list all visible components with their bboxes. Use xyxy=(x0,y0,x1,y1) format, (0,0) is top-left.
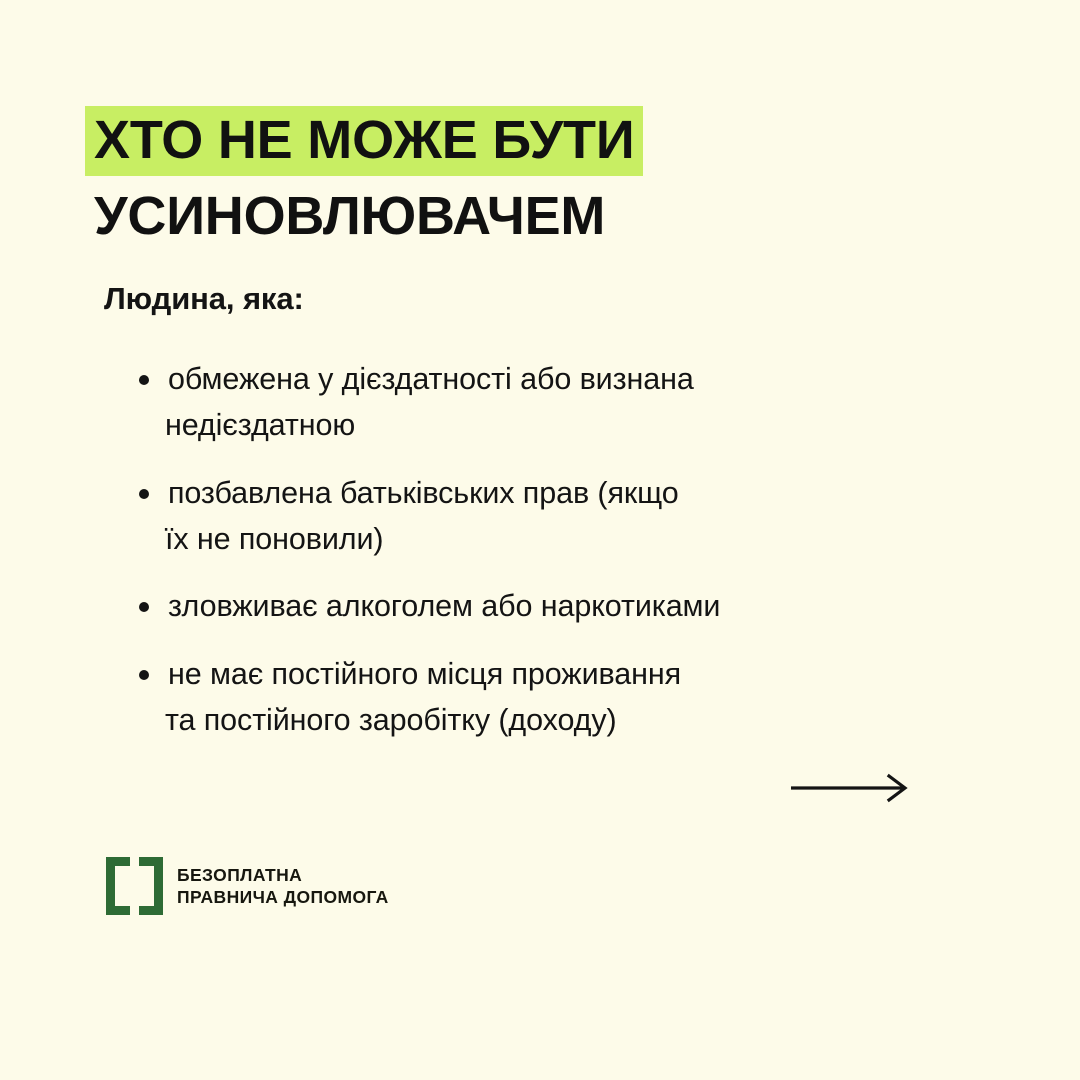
subtitle: Людина, яка: xyxy=(104,281,304,317)
bullet-dot-icon xyxy=(139,375,149,385)
list-item-line: зловживає алкоголем або наркотиками xyxy=(168,583,966,629)
title-line-2: УСИНОВЛЮВАЧЕМ xyxy=(94,186,914,248)
page-title: ХТО НЕ МОЖЕ БУТИ УСИНОВЛЮВАЧЕМ xyxy=(94,106,914,248)
slide-card: ХТО НЕ МОЖЕ БУТИ УСИНОВЛЮВАЧЕМ Людина, я… xyxy=(0,0,1080,1080)
list-item: не має постійного місця проживання та по… xyxy=(136,651,966,744)
right-bracket-icon xyxy=(139,857,163,915)
title-highlight: ХТО НЕ МОЖЕ БУТИ xyxy=(85,106,643,176)
list-item: позбавлена батьківських прав (якщо їх не… xyxy=(136,470,966,563)
brand-name-line-2: ПРАВНИЧА ДОПОМОГА xyxy=(177,886,389,908)
title-line-1: ХТО НЕ МОЖЕ БУТИ xyxy=(94,106,914,176)
list-item: обмежена у дієздатності або визнана неді… xyxy=(136,356,966,449)
bullet-dot-icon xyxy=(139,670,149,680)
list-item-text: зловживає алкоголем або наркотиками xyxy=(168,583,966,629)
list-item-line: їх не поновили) xyxy=(165,516,966,562)
brackets-logo-icon xyxy=(106,857,163,915)
bullet-dot-icon xyxy=(139,602,149,612)
brand-name-line-1: БЕЗОПЛАТНА xyxy=(177,864,389,886)
bullet-dot-icon xyxy=(139,489,149,499)
list-item-line: позбавлена батьківських прав (якщо xyxy=(168,470,966,516)
brand-name: БЕЗОПЛАТНА ПРАВНИЧА ДОПОМОГА xyxy=(177,864,389,908)
brand-logo: БЕЗОПЛАТНА ПРАВНИЧА ДОПОМОГА xyxy=(106,857,389,915)
next-slide-arrow-icon[interactable] xyxy=(789,770,911,806)
left-bracket-icon xyxy=(106,857,130,915)
list-item-line: не має постійного місця проживання xyxy=(168,651,966,697)
list-item: зловживає алкоголем або наркотиками xyxy=(136,583,966,629)
list-item-text: позбавлена батьківських прав (якщо їх не… xyxy=(168,470,966,563)
list-item-line: обмежена у дієздатності або визнана xyxy=(168,356,966,402)
list-item-line: та постійного заробітку (доходу) xyxy=(165,697,966,743)
list-item-text: обмежена у дієздатності або визнана неді… xyxy=(168,356,966,449)
list-item-line: недієздатною xyxy=(165,402,966,448)
criteria-list: обмежена у дієздатності або визнана неді… xyxy=(136,356,966,744)
list-item-text: не має постійного місця проживання та по… xyxy=(168,651,966,744)
